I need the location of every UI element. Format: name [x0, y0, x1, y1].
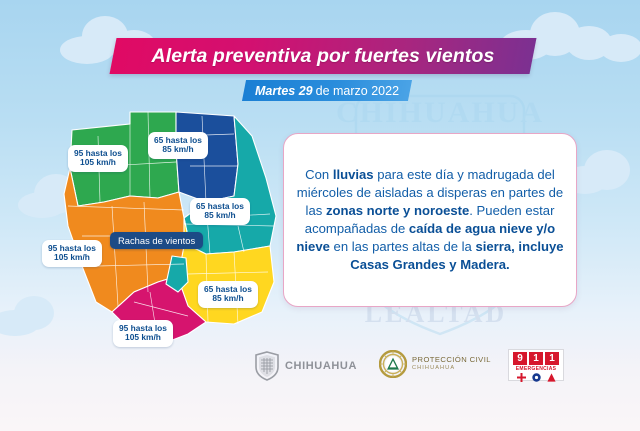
chip-west-line2: 105 km/h: [48, 253, 96, 263]
wind-gusts-legend: Rachas de vientos: [110, 232, 203, 249]
medical-cross-icon: [517, 373, 526, 382]
footer-logos: CHIHUAHUA PROTECCIÓN CIVIL CHIHUAHUA: [0, 348, 640, 392]
proteccion-civil-emblem-icon: [379, 350, 407, 378]
date-prefix: Martes 29: [255, 84, 313, 98]
chip-northwest: 95 hasta los 105 km/h: [68, 145, 128, 172]
emergency-digit-3: 1: [545, 352, 559, 365]
chip-south: 95 hasta los 105 km/h: [113, 320, 173, 347]
emergency-label: EMERGENCIAS: [510, 366, 562, 372]
proteccion-civil-line1: PROTECCIÓN CIVIL: [412, 356, 491, 364]
chip-northeast-line2: 85 km/h: [196, 211, 244, 221]
emergency-digit-2: 1: [529, 352, 543, 365]
chip-northeast: 65 hasta los 85 km/h: [190, 198, 250, 225]
alert-banner: Alerta preventiva por fuertes vientos: [0, 38, 640, 80]
date-suffix: de marzo 2022: [316, 84, 399, 98]
chip-southeast-line2: 85 km/h: [204, 294, 252, 304]
proteccion-civil-line2: CHIHUAHUA: [412, 366, 491, 372]
chihuahua-shield-icon: [254, 351, 280, 381]
logo-proteccion-civil: PROTECCIÓN CIVIL CHIHUAHUA: [379, 350, 491, 378]
chip-southeast: 65 hasta los 85 km/h: [198, 281, 258, 308]
logo-chihuahua: CHIHUAHUA: [254, 351, 357, 381]
infographic-canvas: CHIHUAHUA LEALTAD Alerta preventiva por …: [0, 0, 640, 431]
chip-south-line2: 105 km/h: [119, 333, 167, 343]
chip-northwest-line2: 105 km/h: [74, 158, 122, 168]
date-bar: Martes 29 de marzo 2022: [244, 80, 410, 101]
logo-911-emergencias: 9 1 1 EMERGENCIAS: [508, 349, 564, 381]
police-badge-icon: [532, 373, 541, 382]
emergency-digit-1: 9: [513, 352, 527, 365]
fire-triangle-icon: [547, 373, 556, 382]
chip-north: 65 hasta los 85 km/h: [148, 132, 208, 159]
chip-west: 95 hasta los 105 km/h: [42, 240, 102, 267]
alert-title: Alerta preventiva por fuertes vientos: [113, 38, 533, 74]
chip-north-line2: 85 km/h: [154, 145, 202, 155]
forecast-text: Con lluvias para este día y madrugada de…: [284, 166, 576, 274]
emergency-911-badge: 9 1 1 EMERGENCIAS: [508, 349, 564, 381]
chihuahua-wordmark: CHIHUAHUA: [285, 360, 357, 372]
forecast-panel: Con lluvias para este día y madrugada de…: [283, 133, 577, 307]
